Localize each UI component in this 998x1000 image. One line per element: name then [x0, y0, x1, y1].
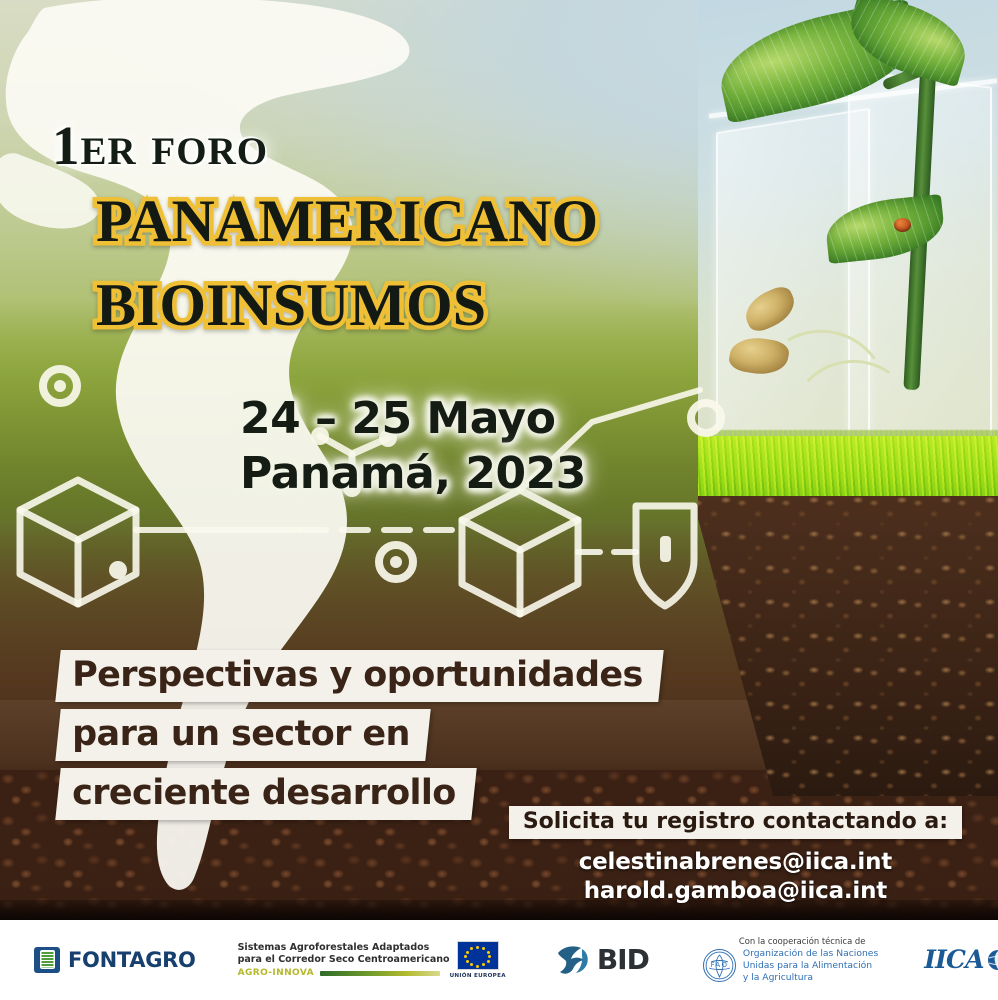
fontagro-icon [34, 947, 60, 973]
contact-email-2[interactable]: harold.gamboa@iica.int [509, 877, 962, 906]
event-location: Panamá, 2023 [240, 447, 586, 502]
page-title: Panamericano Bioinsumos [96, 170, 598, 339]
fao-name-line-2: Unidas para la Alimentación [743, 960, 878, 972]
title-line-2: Bioinsumos [96, 254, 598, 338]
logo-iica: IICA [924, 945, 998, 974]
fontagro-wordmark: FONTAGRO [68, 948, 196, 972]
bid-wordmark: BID [597, 943, 649, 976]
agro-innova-line-2: para el Corredor Seco Centroamericano [238, 954, 450, 966]
bid-swoosh-icon [556, 944, 590, 976]
subtitle-row: Perspectivas y oportunidades [58, 650, 661, 709]
subtitle-line-2: para un sector en [55, 709, 430, 761]
subtitle-block: Perspectivas y oportunidades para un sec… [58, 650, 661, 827]
subtitle-line-2-text: para un sector en [72, 714, 410, 754]
fontagro-leaf-icon [40, 950, 55, 969]
iica-globe-icon [987, 949, 998, 971]
logo-fontagro: FONTAGRO [34, 947, 196, 973]
logo-european-union: UNIÓN EUROPEA [450, 941, 506, 979]
contact-heading: Solicita tu registro contactando a: [509, 806, 962, 839]
fao-name: Organización de las Naciones Unidas para… [743, 948, 878, 984]
fao-name-line-1: Organización de las Naciones [743, 948, 878, 960]
iica-wordmark: IICA [924, 945, 983, 974]
eu-caption: UNIÓN EUROPEA [450, 973, 506, 979]
subtitle-line-3: creciente desarrollo [55, 768, 476, 820]
eu-flag-icon [457, 941, 499, 970]
event-date-location: 24 – 25 Mayo Panamá, 2023 [240, 392, 586, 501]
fao-name-line-3: y la Agricultura [743, 972, 878, 984]
svg-text:FAO: FAO [710, 961, 728, 969]
ladybug-icon [894, 218, 911, 232]
agro-innova-gradient-bar [320, 971, 440, 976]
logo-agro-innova: Sistemas Agroforestales Adaptados para e… [238, 942, 450, 979]
subtitle-line-1: Perspectivas y oportunidades [55, 650, 663, 702]
logo-row: FONTAGRO Sistemas Agroforestales Adaptad… [0, 936, 998, 984]
fao-row: FAO Organización de las Naciones Unidas … [703, 948, 878, 984]
fao-emblem-icon: FAO [703, 949, 736, 982]
fao-cooperation-label: Con la cooperación técnica de [739, 936, 866, 946]
agro-innova-brand-row: AGRO-INNOVA [238, 968, 450, 978]
subtitle-line-3-text: creciente desarrollo [72, 773, 456, 813]
logo-fao: Con la cooperación técnica de FAO Organi… [703, 936, 878, 984]
sponsor-footer: FONTAGRO Sistemas Agroforestales Adaptad… [0, 920, 998, 1000]
subtitle-line-1-text: Perspectivas y oportunidades [72, 655, 643, 695]
contact-block: Solicita tu registro contactando a: cele… [509, 806, 962, 906]
subtitle-row: para un sector en [58, 709, 661, 768]
poster-canvas: 1er Foro Panamericano Bioinsumos 24 – 25… [0, 0, 998, 1000]
agro-innova-line-1: Sistemas Agroforestales Adaptados [238, 942, 450, 954]
title-line-1: Panamericano [96, 164, 598, 260]
event-date: 24 – 25 Mayo [240, 392, 586, 447]
agro-innova-brand: AGRO-INNOVA [238, 968, 314, 978]
contact-email-1[interactable]: celestinabrenes@iica.int [509, 848, 962, 877]
contact-emails: celestinabrenes@iica.int harold.gamboa@i… [509, 848, 962, 906]
logo-bid: BID [556, 943, 649, 976]
